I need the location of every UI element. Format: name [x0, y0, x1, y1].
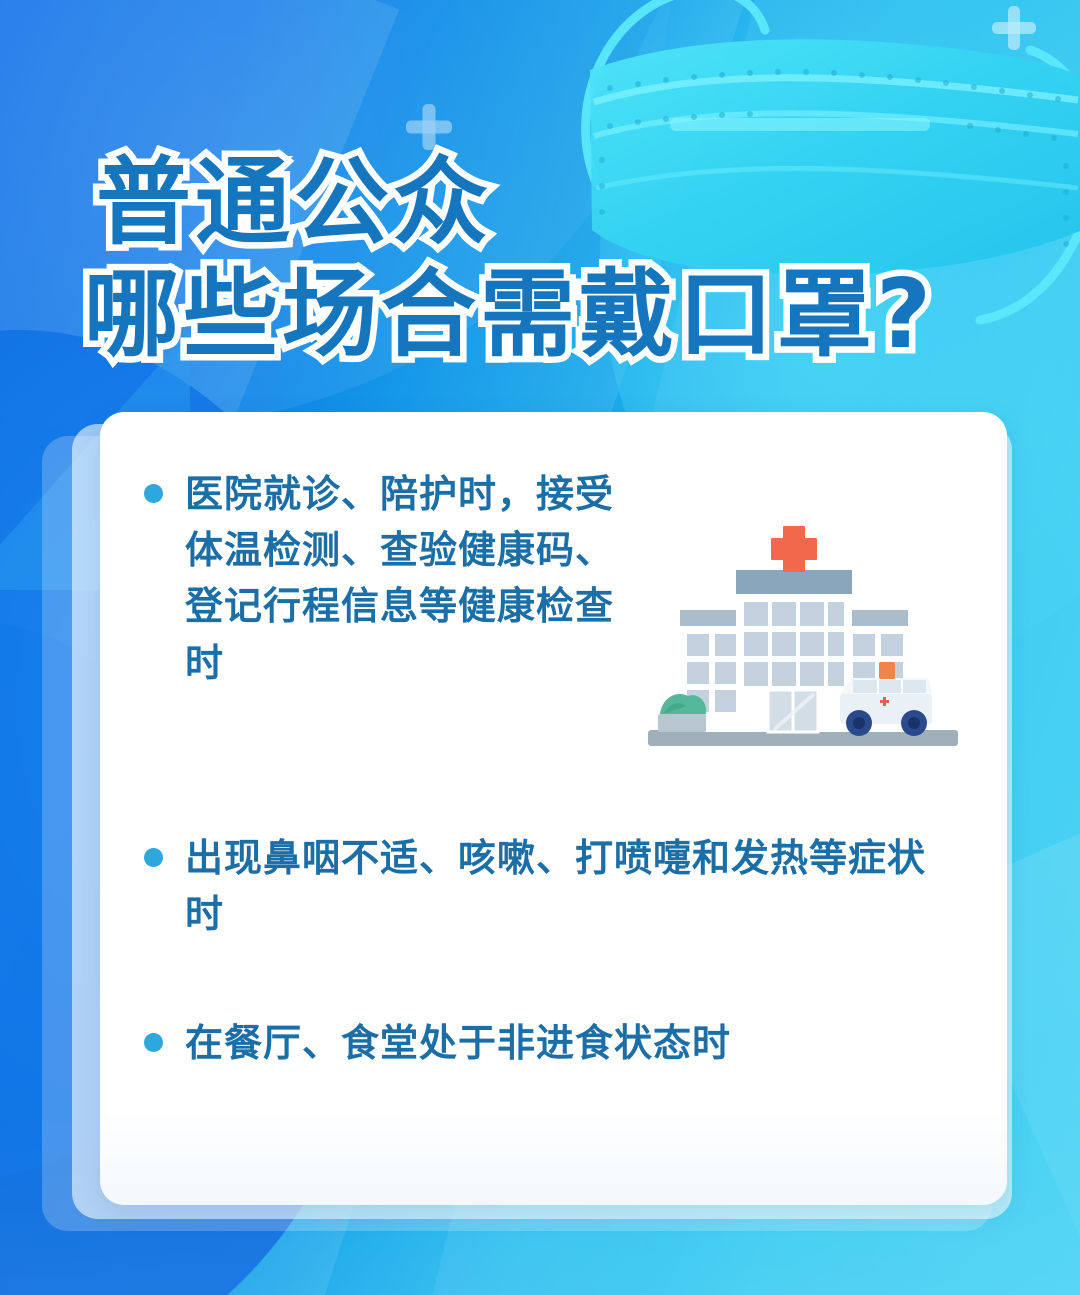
content-card: 医院就诊、陪护时，接受体温检测、查验健康码、登记行程信息等健康检查时 出现鼻咽不… [100, 412, 1007, 1205]
bullet-list: 医院就诊、陪护时，接受体温检测、查验健康码、登记行程信息等健康检查时 出现鼻咽不… [100, 412, 1007, 1205]
poster-canvas: 普通公众 哪些场合需戴口罩? [0, 0, 1080, 1295]
list-item: 医院就诊、陪护时，接受体温检测、查验健康码、登记行程信息等健康检查时 [144, 466, 644, 691]
bullet-text: 在餐厅、食堂处于非进食状态时 [185, 1015, 731, 1071]
bullet-dot-icon [144, 484, 163, 503]
list-item: 在餐厅、食堂处于非进食状态时 [144, 1015, 964, 1071]
bullet-text: 出现鼻咽不适、咳嗽、打喷嚏和发热等症状时 [185, 830, 964, 942]
bullet-dot-icon [144, 1033, 163, 1052]
bullet-dot-icon [144, 848, 163, 867]
title-line-1: 普通公众 [96, 150, 1008, 256]
list-item: 出现鼻咽不适、咳嗽、打喷嚏和发热等症状时 [144, 830, 964, 942]
bullet-text: 医院就诊、陪护时，接受体温检测、查验健康码、登记行程信息等健康检查时 [185, 466, 644, 691]
title-line-2: 哪些场合需戴口罩? [84, 262, 1008, 368]
poster-title: 普通公众 哪些场合需戴口罩? [78, 150, 1008, 369]
